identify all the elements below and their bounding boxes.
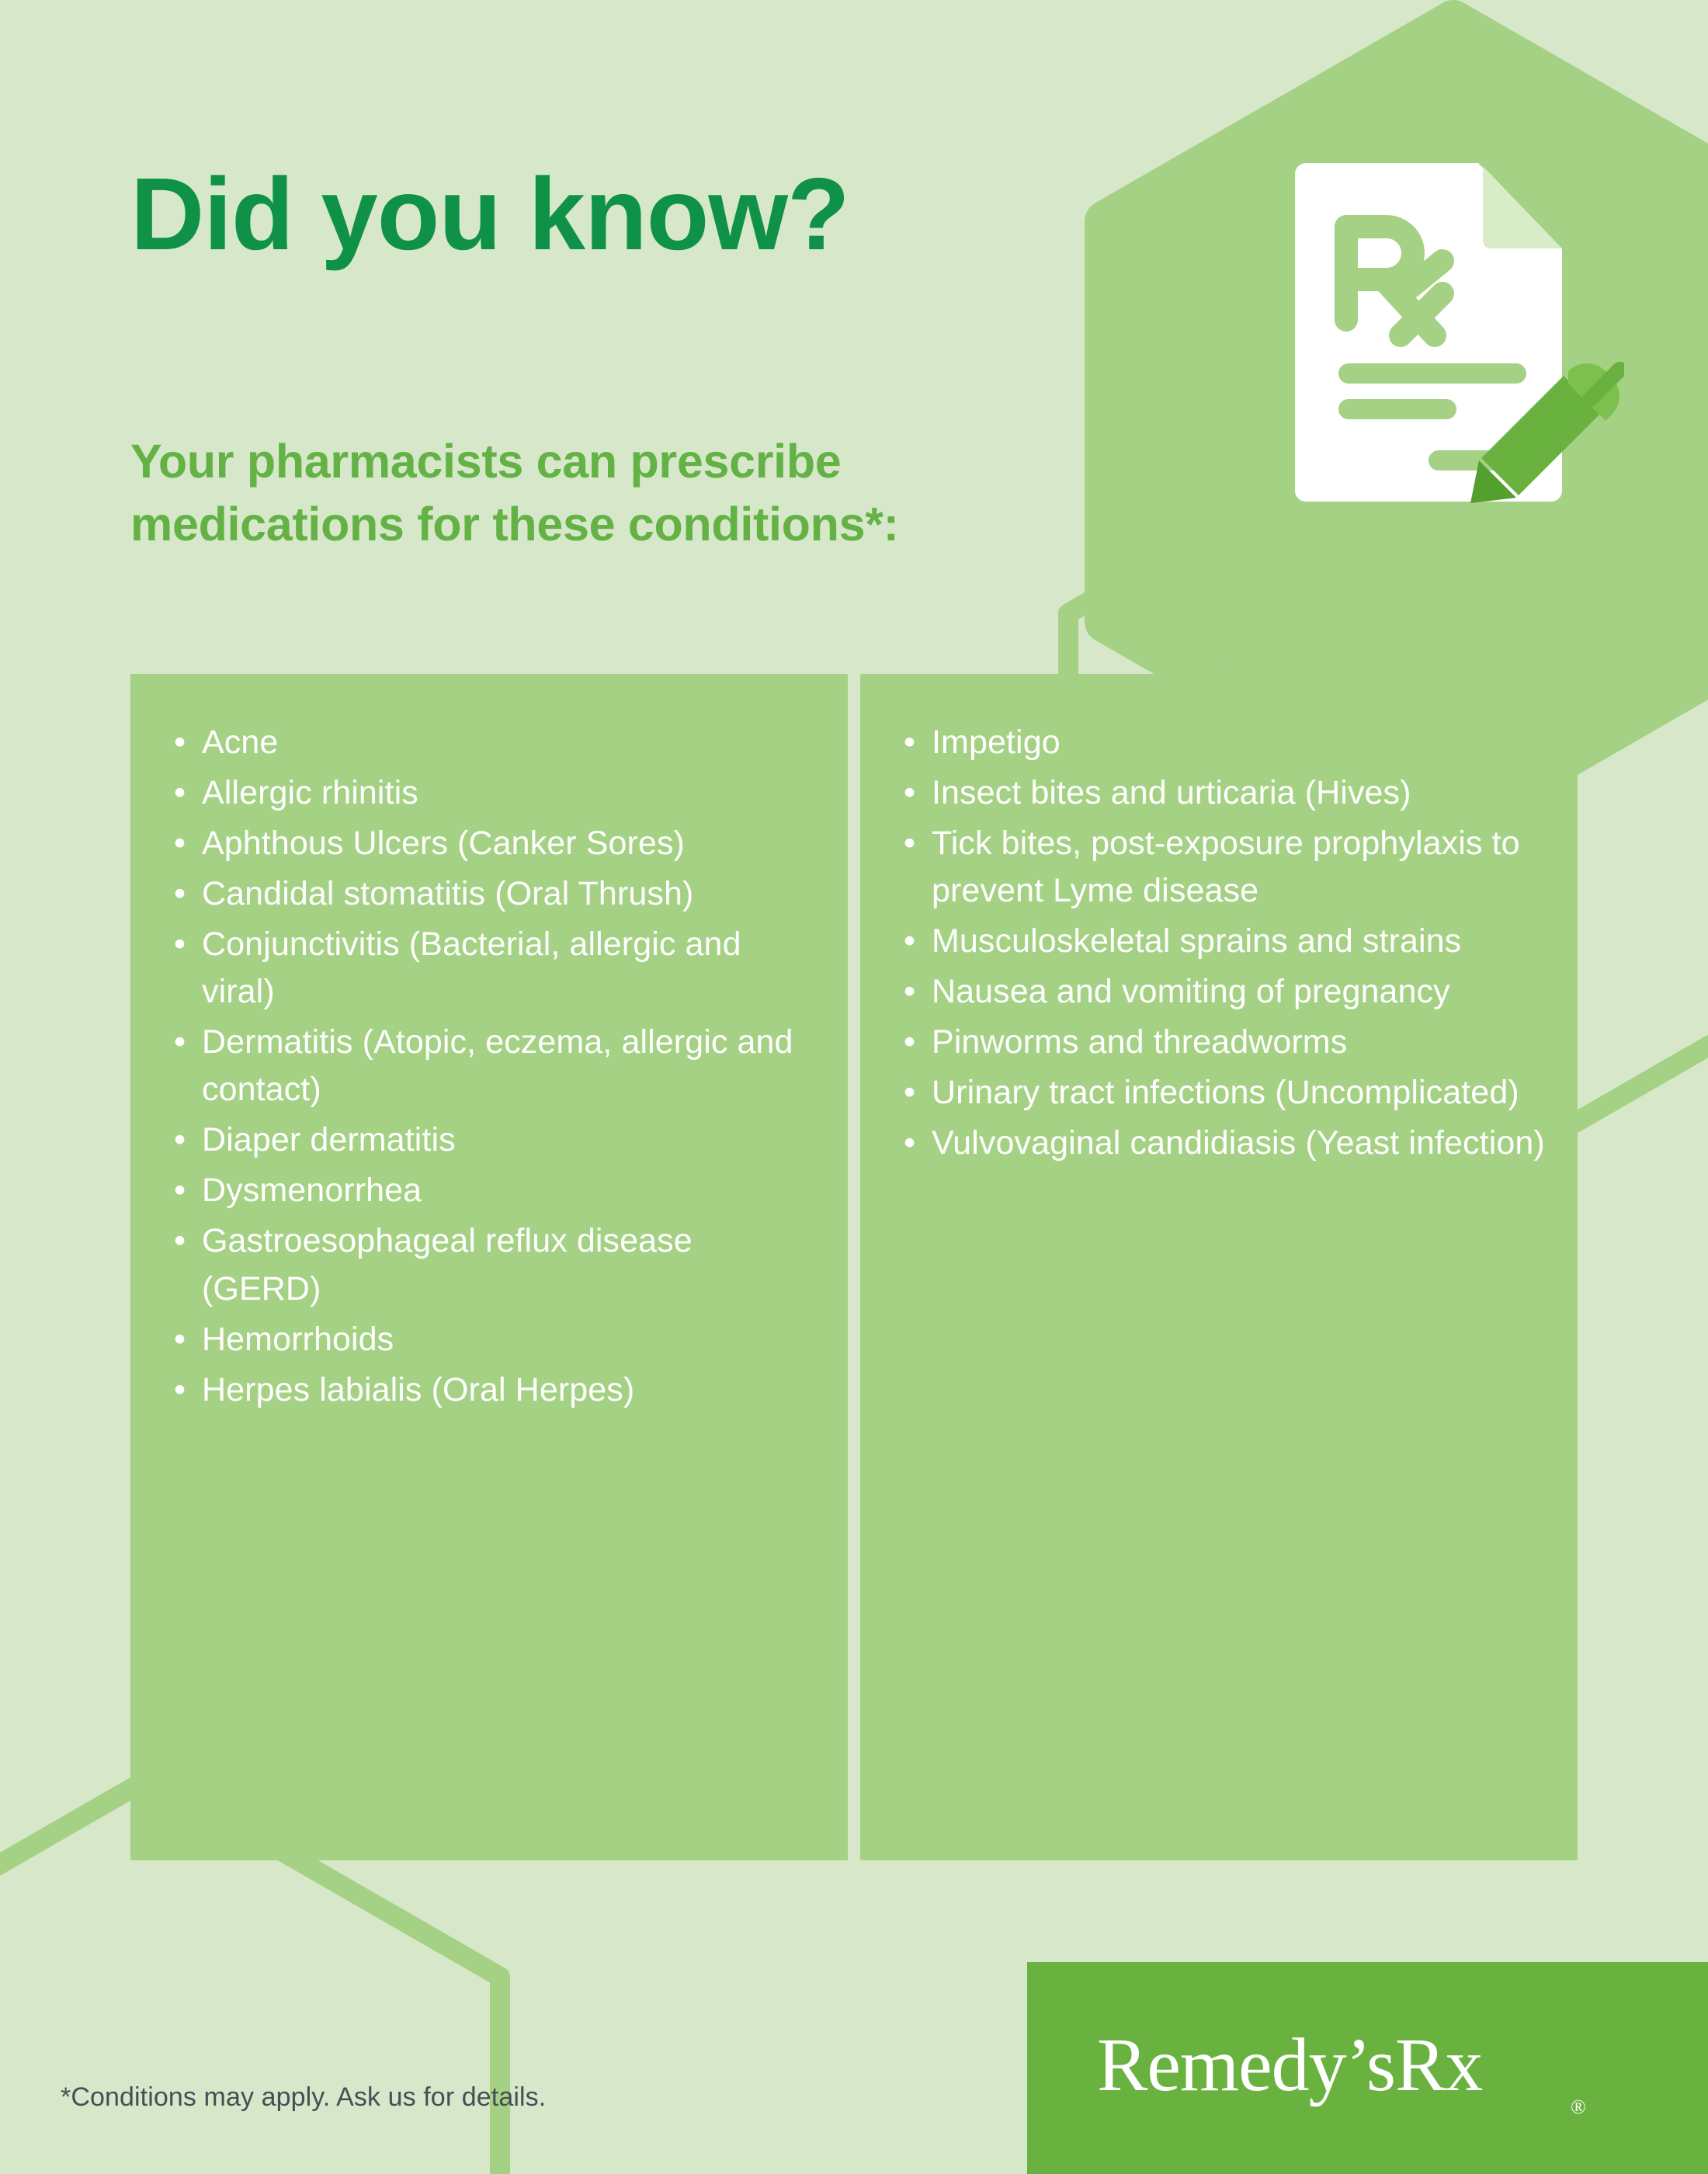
list-item: •Dysmenorrhea: [168, 1167, 817, 1214]
bullet-icon: •: [904, 719, 915, 766]
footnote-text: *Conditions may apply. Ask us for detail…: [61, 2082, 546, 2113]
bullet-icon: •: [174, 1316, 185, 1363]
bullet-icon: •: [174, 719, 185, 766]
bullet-icon: •: [174, 1117, 185, 1164]
list-item: •Candidal stomatitis (Oral Thrush): [168, 870, 817, 918]
bullet-icon: •: [904, 968, 915, 1016]
bullet-icon: •: [174, 769, 185, 817]
list-item-label: Allergic rhinitis: [202, 774, 418, 811]
list-item: •Conjunctivitis (Bacterial, allergic and…: [168, 921, 817, 1016]
conditions-card-left: •Acne •Allergic rhinitis •Aphthous Ulcer…: [130, 674, 848, 1860]
list-item-label: Conjunctivitis (Bacterial, allergic and …: [202, 926, 741, 1010]
bullet-icon: •: [174, 820, 185, 867]
list-item-label: Tick bites, post-exposure prophylaxis to…: [932, 825, 1520, 909]
registered-trademark-icon: ®: [1571, 2096, 1586, 2119]
bullet-icon: •: [904, 1019, 915, 1066]
page-subtitle: Your pharmacists can prescribe medicatio…: [130, 430, 1047, 555]
list-item-label: Insect bites and urticaria (Hives): [932, 774, 1411, 811]
list-item: •Pinworms and threadworms: [897, 1019, 1547, 1066]
list-item: •Aphthous Ulcers (Canker Sores): [168, 820, 817, 867]
list-item: •Insect bites and urticaria (Hives): [897, 769, 1547, 817]
bullet-icon: •: [174, 1217, 185, 1265]
folded-corner: [1483, 166, 1562, 248]
bullet-icon: •: [174, 870, 185, 918]
list-item: •Allergic rhinitis: [168, 769, 817, 817]
bullet-icon: •: [174, 1367, 185, 1414]
page-subtitle-line-1: Your pharmacists can prescribe: [130, 430, 1047, 493]
bullet-icon: •: [904, 769, 915, 817]
conditions-card-right: •Impetigo •Insect bites and urticaria (H…: [860, 674, 1578, 1860]
list-item-label: Vulvovaginal candidiasis (Yeast infectio…: [932, 1124, 1545, 1162]
list-item-label: Nausea and vomiting of pregnancy: [932, 973, 1450, 1010]
list-item: •Gastroesophageal reflux disease (GERD): [168, 1217, 817, 1312]
bullet-icon: •: [174, 921, 185, 968]
bullet-icon: •: [174, 1167, 185, 1214]
list-item-label: Dysmenorrhea: [202, 1172, 422, 1209]
list-item-label: Hemorrhoids: [202, 1321, 394, 1358]
list-item: •Vulvovaginal candidiasis (Yeast infecti…: [897, 1120, 1547, 1167]
prescription-document-icon: [1290, 152, 1624, 509]
list-item: •Musculoskeletal sprains and strains: [897, 918, 1547, 965]
page-subtitle-line-2: medications for these conditions*:: [130, 493, 1047, 556]
conditions-card-group: •Acne •Allergic rhinitis •Aphthous Ulcer…: [130, 674, 1578, 1860]
list-item: •Herpes labialis (Oral Herpes): [168, 1367, 817, 1414]
list-item-label: Candidal stomatitis (Oral Thrush): [202, 875, 693, 912]
bullet-icon: •: [174, 1019, 185, 1066]
bullet-icon: •: [904, 1120, 915, 1167]
list-item-label: Musculoskeletal sprains and strains: [932, 922, 1461, 960]
bullet-icon: •: [904, 918, 915, 965]
list-item: •Acne: [168, 719, 817, 766]
list-item-label: Herpes labialis (Oral Herpes): [202, 1371, 634, 1408]
list-item-label: Gastroesophageal reflux disease (GERD): [202, 1222, 693, 1307]
list-item-label: Diaper dermatitis: [202, 1121, 456, 1158]
page-title: Did you know?: [130, 163, 849, 266]
list-item: •Impetigo: [897, 719, 1547, 766]
brand-wordmark: Remedy’sRx: [1097, 2027, 1482, 2103]
list-item: •Hemorrhoids: [168, 1316, 817, 1363]
list-item: •Dermatitis (Atopic, eczema, allergic an…: [168, 1019, 817, 1113]
list-item-label: Dermatitis (Atopic, eczema, allergic and…: [202, 1023, 793, 1108]
document-line-2: [1338, 399, 1456, 419]
list-item: •Urinary tract infections (Uncomplicated…: [897, 1069, 1547, 1117]
list-item: •Tick bites, post-exposure prophylaxis t…: [897, 820, 1547, 915]
brand-logo-block: Remedy’sRx ®: [1027, 1962, 1708, 2174]
conditions-list-right: •Impetigo •Insect bites and urticaria (H…: [897, 719, 1547, 1167]
list-item-label: Urinary tract infections (Uncomplicated): [932, 1074, 1519, 1111]
infographic-poster: Did you know? Your pharmacists can presc…: [0, 0, 1708, 2174]
bullet-icon: •: [904, 1069, 915, 1117]
list-item-label: Acne: [202, 724, 278, 761]
conditions-list-left: •Acne •Allergic rhinitis •Aphthous Ulcer…: [168, 719, 817, 1414]
list-item: •Diaper dermatitis: [168, 1117, 817, 1164]
list-item-label: Pinworms and threadworms: [932, 1023, 1347, 1061]
list-item-label: Impetigo: [932, 724, 1061, 761]
bullet-icon: •: [904, 820, 915, 867]
document-line-1: [1338, 363, 1526, 384]
list-item-label: Aphthous Ulcers (Canker Sores): [202, 825, 685, 862]
list-item: •Nausea and vomiting of pregnancy: [897, 968, 1547, 1016]
